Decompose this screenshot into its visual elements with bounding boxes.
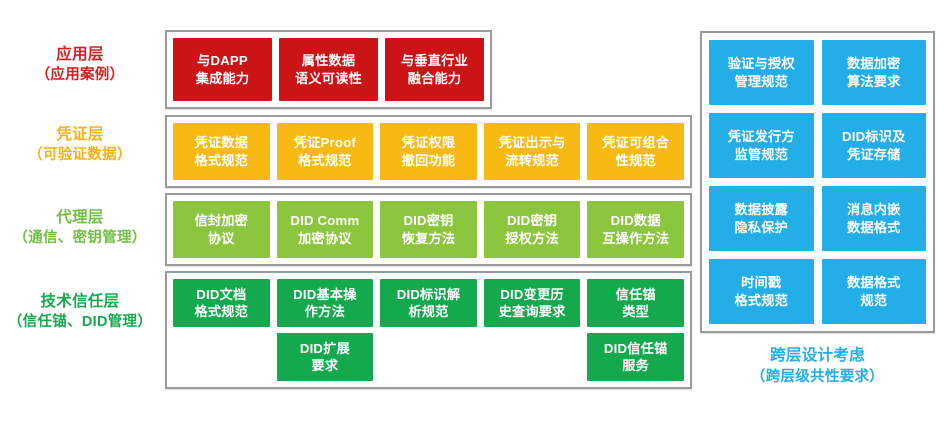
cell-application-0[interactable]: 与DAPP集成能力 <box>173 38 272 101</box>
cell-agent-2[interactable]: DID密钥恢复方法 <box>380 201 477 258</box>
layer-label-credential-sub: （可验证数据） <box>0 145 160 165</box>
crosslayer-caption: 跨层设计考虑 （跨层级共性要求） <box>700 345 935 387</box>
cell-credential-0[interactable]: 凭证数据格式规范 <box>173 123 270 180</box>
cell-trust-r2-4[interactable]: DID信任锚服务 <box>587 333 684 381</box>
panel-agent-layer: 信封加密协议 DID Comm加密协议 DID密钥恢复方法 DID密钥授权方法 … <box>165 193 692 266</box>
layer-label-agent-title: 代理层 <box>56 209 103 226</box>
cell-trust-r1-3[interactable]: DID变更历史查询要求 <box>484 279 581 327</box>
cell-trust-r2-0 <box>173 333 270 381</box>
cell-crosslayer-r2-1[interactable]: DID标识及凭证存储 <box>822 113 927 178</box>
cell-application-1[interactable]: 属性数据语义可读性 <box>279 38 378 101</box>
panel-application-layer: 与DAPP集成能力 属性数据语义可读性 与垂直行业融合能力 <box>165 30 492 109</box>
layer-label-trust: 技术信任层 （信任锚、DID管理） <box>0 291 160 332</box>
cell-trust-r2-1[interactable]: DID扩展要求 <box>277 333 374 381</box>
crosslayer-caption-title: 跨层设计考虑 <box>770 347 865 364</box>
cell-agent-0[interactable]: 信封加密协议 <box>173 201 270 258</box>
cell-trust-r1-0[interactable]: DID文档格式规范 <box>173 279 270 327</box>
panel-credential-layer: 凭证数据格式规范 凭证Proof格式规范 凭证权限撤回功能 凭证出示与流转规范 … <box>165 115 692 188</box>
cell-trust-r2-2 <box>380 333 477 381</box>
layer-label-credential: 凭证层 （可验证数据） <box>0 124 160 165</box>
cell-crosslayer-r2-0[interactable]: 凭证发行方监管规范 <box>709 113 814 178</box>
cell-crosslayer-r1-1[interactable]: 数据加密算法要求 <box>822 40 927 105</box>
trust-layer-row-2: DID扩展要求 DID信任锚服务 <box>173 333 684 381</box>
cell-trust-r1-2[interactable]: DID标识解析规范 <box>380 279 477 327</box>
layer-label-trust-sub: （信任锚、DID管理） <box>0 312 160 332</box>
layer-label-application: 应用层 （应用案例） <box>0 44 160 85</box>
cell-trust-r2-3 <box>484 333 581 381</box>
layer-label-credential-title: 凭证层 <box>56 126 103 143</box>
architecture-diagram: 应用层 （应用案例） 凭证层 （可验证数据） 代理层 （通信、密钥管理） 技术信… <box>0 0 944 427</box>
panel-crosslayer: 验证与授权管理规范 数据加密算法要求 凭证发行方监管规范 DID标识及凭证存储 … <box>700 31 935 333</box>
cell-trust-r1-1[interactable]: DID基本操作方法 <box>277 279 374 327</box>
cell-crosslayer-r4-0[interactable]: 时间戳格式规范 <box>709 259 814 324</box>
cell-credential-2[interactable]: 凭证权限撤回功能 <box>380 123 477 180</box>
cell-agent-3[interactable]: DID密钥授权方法 <box>484 201 581 258</box>
crosslayer-rows: 验证与授权管理规范 数据加密算法要求 凭证发行方监管规范 DID标识及凭证存储 … <box>702 33 933 331</box>
panel-trust-layer: DID文档格式规范 DID基本操作方法 DID标识解析规范 DID变更历史查询要… <box>165 271 692 389</box>
cell-crosslayer-r4-1[interactable]: 数据格式规范 <box>822 259 927 324</box>
cell-agent-1[interactable]: DID Comm加密协议 <box>277 201 374 258</box>
layer-label-application-sub: （应用案例） <box>0 65 160 85</box>
trust-layer-row-1: DID文档格式规范 DID基本操作方法 DID标识解析规范 DID变更历史查询要… <box>173 279 684 327</box>
crosslayer-row-2: 凭证发行方监管规范 DID标识及凭证存储 <box>709 113 926 178</box>
credential-layer-row: 凭证数据格式规范 凭证Proof格式规范 凭证权限撤回功能 凭证出示与流转规范 … <box>167 117 690 186</box>
cell-application-2[interactable]: 与垂直行业融合能力 <box>385 38 484 101</box>
layer-label-agent: 代理层 （通信、密钥管理） <box>0 207 160 248</box>
cell-trust-r1-4[interactable]: 信任锚类型 <box>587 279 684 327</box>
crosslayer-row-1: 验证与授权管理规范 数据加密算法要求 <box>709 40 926 105</box>
cell-crosslayer-r1-0[interactable]: 验证与授权管理规范 <box>709 40 814 105</box>
application-layer-row: 与DAPP集成能力 属性数据语义可读性 与垂直行业融合能力 <box>167 32 490 107</box>
cell-credential-3[interactable]: 凭证出示与流转规范 <box>484 123 581 180</box>
layer-label-application-title: 应用层 <box>56 46 103 63</box>
cell-crosslayer-r3-1[interactable]: 消息内嵌数据格式 <box>822 186 927 251</box>
cell-credential-1[interactable]: 凭证Proof格式规范 <box>277 123 374 180</box>
cell-credential-4[interactable]: 凭证可组合性规范 <box>587 123 684 180</box>
crosslayer-row-3: 数据披露隐私保护 消息内嵌数据格式 <box>709 186 926 251</box>
cell-agent-4[interactable]: DID数据互操作方法 <box>587 201 684 258</box>
cell-crosslayer-r3-0[interactable]: 数据披露隐私保护 <box>709 186 814 251</box>
layer-label-agent-sub: （通信、密钥管理） <box>0 228 160 248</box>
crosslayer-row-4: 时间戳格式规范 数据格式规范 <box>709 259 926 324</box>
trust-layer-rows: DID文档格式规范 DID基本操作方法 DID标识解析规范 DID变更历史查询要… <box>167 273 690 387</box>
layer-label-trust-title: 技术信任层 <box>40 293 119 310</box>
crosslayer-caption-sub: （跨层级共性要求） <box>700 367 935 387</box>
agent-layer-row: 信封加密协议 DID Comm加密协议 DID密钥恢复方法 DID密钥授权方法 … <box>167 195 690 264</box>
